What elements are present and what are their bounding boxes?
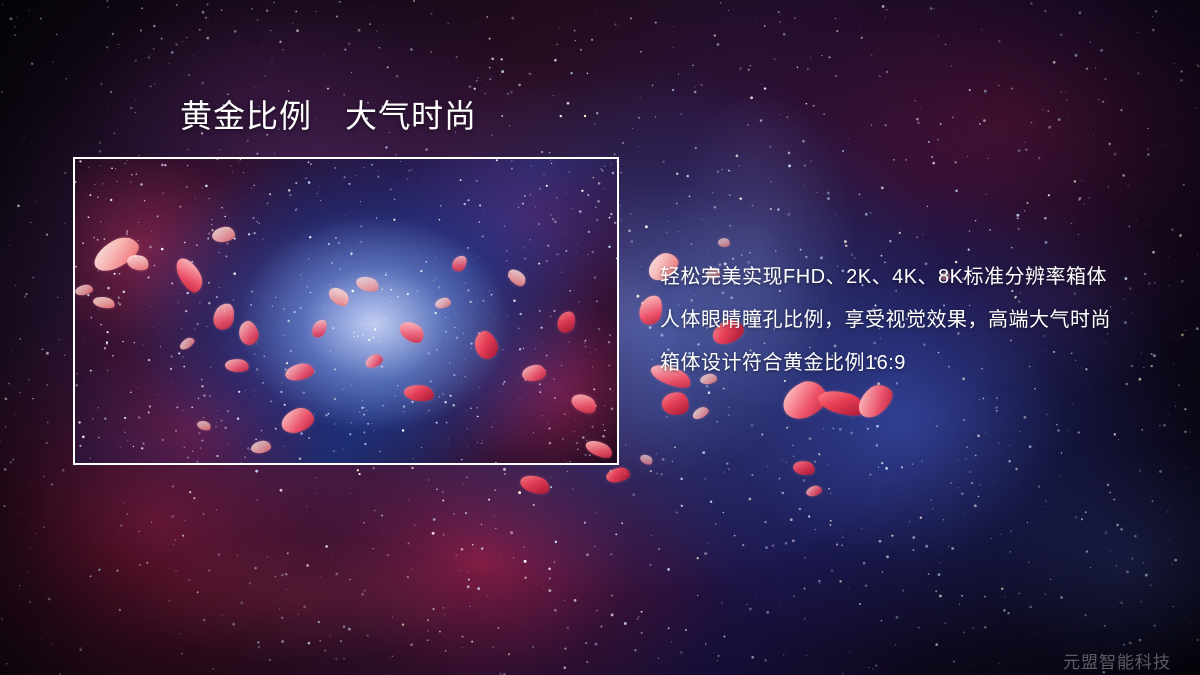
body-line-1: 轻松完美实现FHD、2K、4K、8K标准分辨率箱体 bbox=[660, 256, 1180, 299]
petal bbox=[691, 405, 711, 421]
petal bbox=[518, 472, 552, 497]
petal bbox=[792, 459, 816, 477]
petal bbox=[805, 484, 823, 498]
framed-photo[interactable] bbox=[73, 157, 619, 465]
slide-title: 黄金比例 大气时尚 bbox=[180, 99, 477, 134]
body-line-2: 人体眼睛瞳孔比例，享受视觉效果，高端大气时尚 bbox=[660, 299, 1180, 342]
presentation-slide: 黄金比例 大气时尚 轻松完美实现FHD、2K、4K、8K标准分辨率箱体 人体眼睛… bbox=[0, 0, 1200, 675]
petal bbox=[661, 390, 691, 417]
petal bbox=[852, 379, 898, 423]
petal bbox=[717, 237, 730, 248]
body-copy: 轻松完美实现FHD、2K、4K、8K标准分辨率箱体 人体眼睛瞳孔比例，享受视觉效… bbox=[660, 256, 1180, 385]
petal bbox=[605, 466, 631, 484]
petal bbox=[816, 386, 868, 420]
watermark: 元盟智能科技 bbox=[1063, 648, 1171, 673]
petal bbox=[639, 452, 655, 466]
photo-starfield-icon bbox=[75, 159, 617, 463]
body-line-3: 箱体设计符合黄金比例16:9 bbox=[660, 342, 1180, 385]
